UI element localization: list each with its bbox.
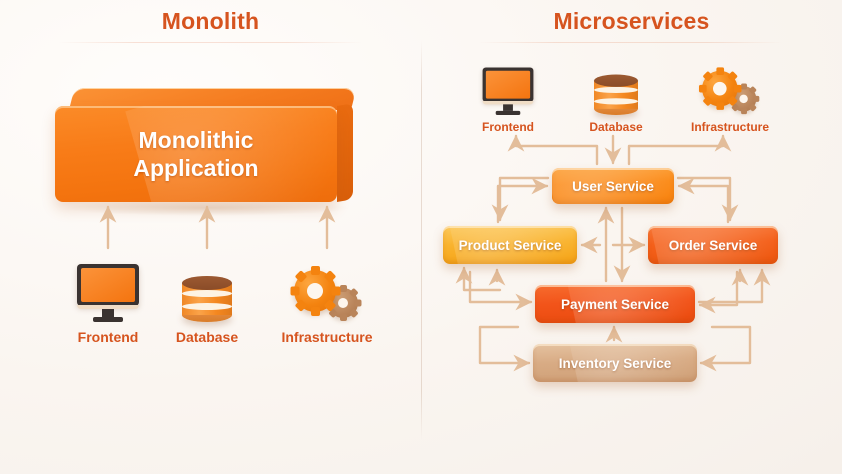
micro-icon-label-database: Database: [561, 120, 671, 134]
database-icon: [152, 250, 262, 322]
monolith-block-side: [337, 103, 353, 202]
monolith-icon-label-database: Database: [152, 329, 262, 345]
micro-icon-infrastructure: Infrastructure: [675, 55, 785, 134]
monolith-icon-database: Database: [152, 250, 262, 345]
micro-icon-label-frontend: Frontend: [453, 120, 563, 134]
service-label-order: Order Service: [669, 238, 758, 253]
monolithic-application-block: Monolithic Application: [55, 88, 351, 202]
service-label-product: Product Service: [459, 238, 562, 253]
monolith-block-label: Monolithic Application: [55, 106, 337, 202]
database-icon: [561, 55, 671, 115]
service-label-inventory: Inventory Service: [559, 356, 672, 371]
gears-icon: [272, 250, 382, 322]
panel-title-microservices: Microservices: [421, 8, 842, 35]
micro-icon-label-infrastructure: Infrastructure: [675, 120, 785, 134]
service-box-order[interactable]: Order Service: [648, 226, 778, 264]
monolith-icon-infrastructure: Infrastructure: [272, 250, 382, 345]
micro-icon-database: Database: [561, 55, 671, 134]
service-box-inventory[interactable]: Inventory Service: [533, 344, 697, 382]
gears-icon: [675, 55, 785, 115]
monitor-icon: [453, 55, 563, 115]
monolith-icon-frontend: Frontend: [53, 250, 163, 345]
title-rule-left: [58, 42, 363, 43]
panel-divider: [421, 40, 422, 440]
monitor-icon: [53, 250, 163, 322]
title-rule-right: [478, 42, 783, 43]
service-box-product[interactable]: Product Service: [443, 226, 577, 264]
service-label-payment: Payment Service: [561, 297, 669, 312]
monolith-icon-label-frontend: Frontend: [53, 329, 163, 345]
diagram-canvas: Monolith Microservices Monolithic Applic…: [0, 0, 842, 474]
service-label-user: User Service: [572, 179, 654, 194]
panel-title-monolith: Monolith: [0, 8, 421, 35]
service-box-user[interactable]: User Service: [552, 168, 674, 204]
monolith-icon-label-infrastructure: Infrastructure: [272, 329, 382, 345]
micro-icon-frontend: Frontend: [453, 55, 563, 134]
monolith-drop-shadow: [62, 200, 352, 216]
service-box-payment[interactable]: Payment Service: [535, 285, 695, 323]
